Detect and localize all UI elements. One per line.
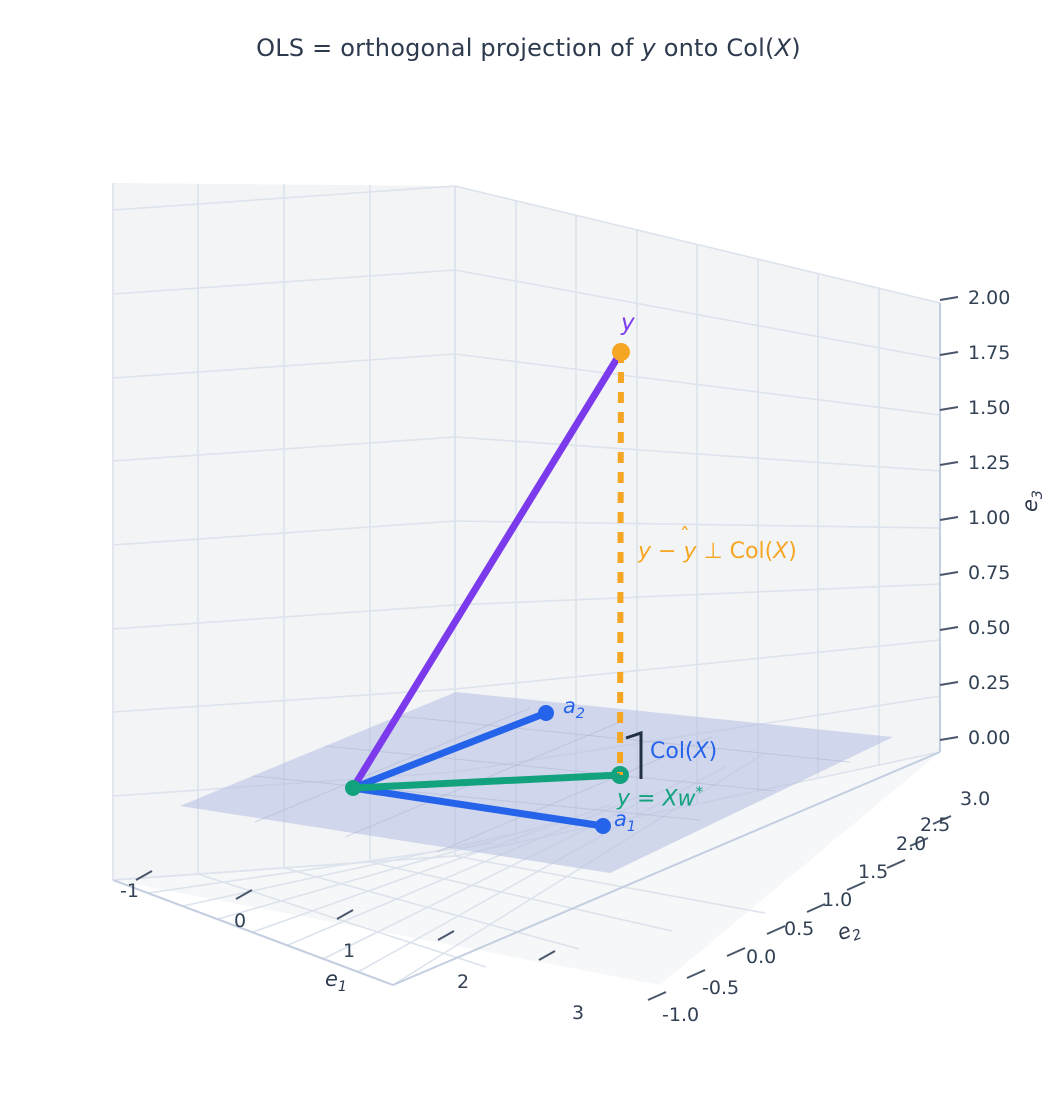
colx-var: X [694,739,709,764]
yhat-star: * [696,783,704,801]
ztick-label-1: 0.25 [968,672,1010,694]
residual-part-minus: − [651,539,683,564]
annotation-y-hat: ̂y = Xw* [617,783,703,811]
ytick-3 [767,926,785,934]
ytick-label-0: -1.0 [662,1004,699,1026]
ztick-2 [940,627,958,630]
ztick-label-0: 0.00 [968,727,1010,749]
yhat-lhs: y [617,786,630,811]
ztick-label-6: 1.50 [968,397,1010,419]
title-prefix: OLS = orthogonal projection of [256,34,641,62]
residual-part-y: y [638,539,651,564]
point-y [612,343,630,361]
ytick-label-5: 1.5 [858,861,888,883]
ztick-label-5: 1.25 [968,452,1010,474]
z-axis-label-sub: 3 [1030,490,1046,499]
page-title: OLS = orthogonal projection of y onto Co… [0,34,1057,62]
colx-prefix: Col( [650,739,694,764]
ytick-6 [887,860,905,868]
title-var-y: y [641,34,655,62]
xtick-label-3: 2 [457,971,469,993]
ztick-7 [940,352,958,355]
ytick-label-4: 1.0 [822,889,852,911]
ytick-label-7: 2.5 [920,814,950,836]
residual-yhat-wrap: ̂y [683,539,696,564]
residual-part-perp: ⊥ Col( [696,539,773,564]
point-a1 [595,818,611,834]
xtick-label-1: 0 [234,910,246,932]
ytick-label-8: 3.0 [960,788,990,810]
xtick-label-2: 1 [343,940,355,962]
ztick-label-8: 2.00 [968,287,1010,309]
figure-canvas: OLS = orthogonal projection of y onto Co… [0,0,1057,1105]
yhat-rhs-x: X [662,786,677,811]
title-suffix: ) [791,34,801,62]
ytick-2 [727,948,745,956]
ztick-6 [940,407,958,410]
ztick-5 [940,462,958,465]
annotation-residual: y − ̂y ⊥ Col(X) [638,539,797,564]
ztick-0 [940,737,958,740]
a1-sub: 1 [627,819,636,835]
title-var-x: X [775,34,792,62]
a2-base: a [563,694,576,718]
ytick-label-1: -0.5 [702,977,739,999]
ztick-label-2: 0.50 [968,617,1010,639]
annotation-y-label: y [621,310,635,336]
a2-sub: 2 [576,706,585,722]
plot-3d-svg [0,0,1057,1105]
ztick-label-7: 1.75 [968,342,1010,364]
xtick-label-4: 3 [572,1002,584,1024]
residual-part-x: X [773,539,788,564]
x-axis-label-base: e [325,967,338,991]
ytick-label-6: 2.0 [896,833,926,855]
colx-suffix: ) [709,739,718,764]
ztick-4 [940,517,958,520]
yhat-rhs-w: w [678,786,696,811]
point-a2 [538,705,554,721]
z-axis-label-base: e [1018,499,1042,512]
title-middle: onto Col( [656,34,775,62]
ytick-0 [648,992,666,1000]
ztick-8 [940,297,958,300]
x-axis-title: e1 [325,967,347,995]
point-origin [345,780,361,796]
ztick-3 [940,572,958,575]
yhat-eq: = [630,786,662,811]
annotation-col-x: Col(X) [650,739,717,764]
axes-panes [113,183,940,985]
ytick-label-3: 0.5 [784,918,814,940]
ytick-label-2: 0.0 [746,946,776,968]
ztick-1 [940,682,958,685]
z-axis-title: e3 [1018,490,1046,512]
x-axis-label-sub: 1 [338,979,347,995]
annotation-a2-label: a2 [563,694,585,722]
xtick-label-0: -1 [120,880,139,902]
ztick-label-3: 0.75 [968,562,1010,584]
ztick-label-4: 1.00 [968,507,1010,529]
residual-part-yhat: y [683,539,696,564]
yhat-lhs-wrap: ̂y [617,786,630,811]
residual-part-close: ) [788,539,797,564]
